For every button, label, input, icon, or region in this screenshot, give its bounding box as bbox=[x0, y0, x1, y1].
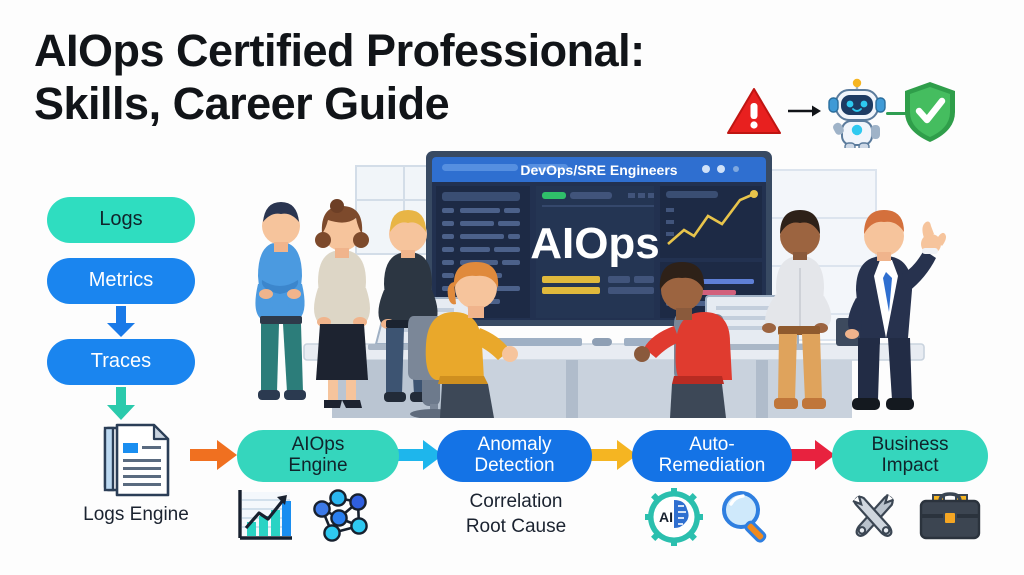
monitor-screen-label: AIOps bbox=[530, 219, 660, 268]
page-title-line-1: AIOps Certified Professional: bbox=[34, 25, 645, 76]
magnifier-icon bbox=[717, 488, 775, 546]
chip-anomaly-detection[interactable]: Anomaly Detection bbox=[437, 430, 592, 482]
arrow-to-business-impact-icon bbox=[788, 438, 836, 472]
logs-engine-caption-line-1: Logs bbox=[83, 504, 124, 525]
arrow-to-auto-remediation-icon bbox=[590, 438, 638, 472]
chip-auto-remediation-label-1: Auto- bbox=[659, 435, 766, 456]
logs-engine-caption-line-2: Engine bbox=[130, 504, 189, 525]
chip-traces[interactable]: Traces bbox=[47, 339, 195, 385]
aiops-engine-icons bbox=[232, 488, 370, 546]
briefcase-icon bbox=[917, 488, 983, 546]
svg-text:AI: AI bbox=[659, 509, 673, 525]
chip-logs[interactable]: Logs bbox=[47, 197, 195, 243]
chip-business-impact[interactable]: Business Impact bbox=[832, 430, 988, 482]
auto-remediation-icons: AI bbox=[645, 488, 775, 546]
chip-aiops-engine[interactable]: AIOps Engine bbox=[237, 430, 399, 482]
arrow-down-traces-to-logs-engine-icon bbox=[104, 387, 138, 421]
arrow-down-metrics-to-traces-icon bbox=[104, 306, 138, 338]
office-illustration: DevOps/SRE Engineers bbox=[236, 148, 992, 418]
office-scene-graphic: DevOps/SRE Engineers bbox=[236, 148, 992, 418]
chip-metrics[interactable]: Metrics bbox=[47, 258, 195, 304]
logs-engine-node: Logs Engine bbox=[82, 422, 190, 526]
tools-icon bbox=[845, 488, 903, 546]
arrow-to-aiops-engine-icon bbox=[190, 438, 238, 472]
chip-business-impact-label-2: Impact bbox=[871, 456, 948, 477]
warning-triangle-icon bbox=[726, 86, 782, 136]
chip-metrics-label: Metrics bbox=[89, 270, 153, 292]
page-title: AIOps Certified Professional: Skills, Ca… bbox=[34, 24, 794, 130]
business-impact-icons bbox=[845, 488, 983, 546]
infographic-canvas: AIOps Certified Professional: Skills, Ca… bbox=[0, 0, 1024, 575]
chip-aiops-engine-label-1: AIOps bbox=[288, 435, 347, 456]
chip-aiops-engine-label-2: Engine bbox=[288, 456, 347, 477]
chip-logs-label: Logs bbox=[99, 209, 142, 231]
person-woman-beige-blouse bbox=[314, 199, 370, 408]
robot-icon bbox=[824, 78, 890, 152]
chip-traces-label: Traces bbox=[91, 351, 151, 373]
chip-anomaly-detection-label-2: Detection bbox=[474, 456, 554, 477]
page-title-line-2: Skills, Career Guide bbox=[34, 77, 794, 130]
anomaly-detection-subtext: Correlation Root Cause bbox=[430, 490, 602, 539]
chip-auto-remediation-label-2: Remediation bbox=[659, 456, 766, 477]
anomaly-detection-subtext-line-1: Correlation bbox=[430, 490, 602, 515]
logs-engine-caption: Logs Engine bbox=[82, 504, 190, 526]
bar-chart-icon bbox=[232, 488, 294, 546]
chip-anomaly-detection-label-1: Anomaly bbox=[474, 435, 554, 456]
ai-brain-icon: AI bbox=[645, 488, 703, 546]
chip-auto-remediation[interactable]: Auto- Remediation bbox=[632, 430, 792, 482]
monitor-header-label: DevOps/SRE Engineers bbox=[520, 162, 677, 178]
shield-check-icon bbox=[902, 80, 958, 144]
chip-business-impact-label-1: Business bbox=[871, 435, 948, 456]
incident-to-resolution-flow bbox=[726, 78, 956, 150]
document-icon bbox=[100, 422, 172, 500]
network-graph-icon bbox=[308, 488, 370, 546]
arrow-right-icon bbox=[788, 104, 822, 118]
anomaly-detection-subtext-line-2: Root Cause bbox=[430, 515, 602, 540]
